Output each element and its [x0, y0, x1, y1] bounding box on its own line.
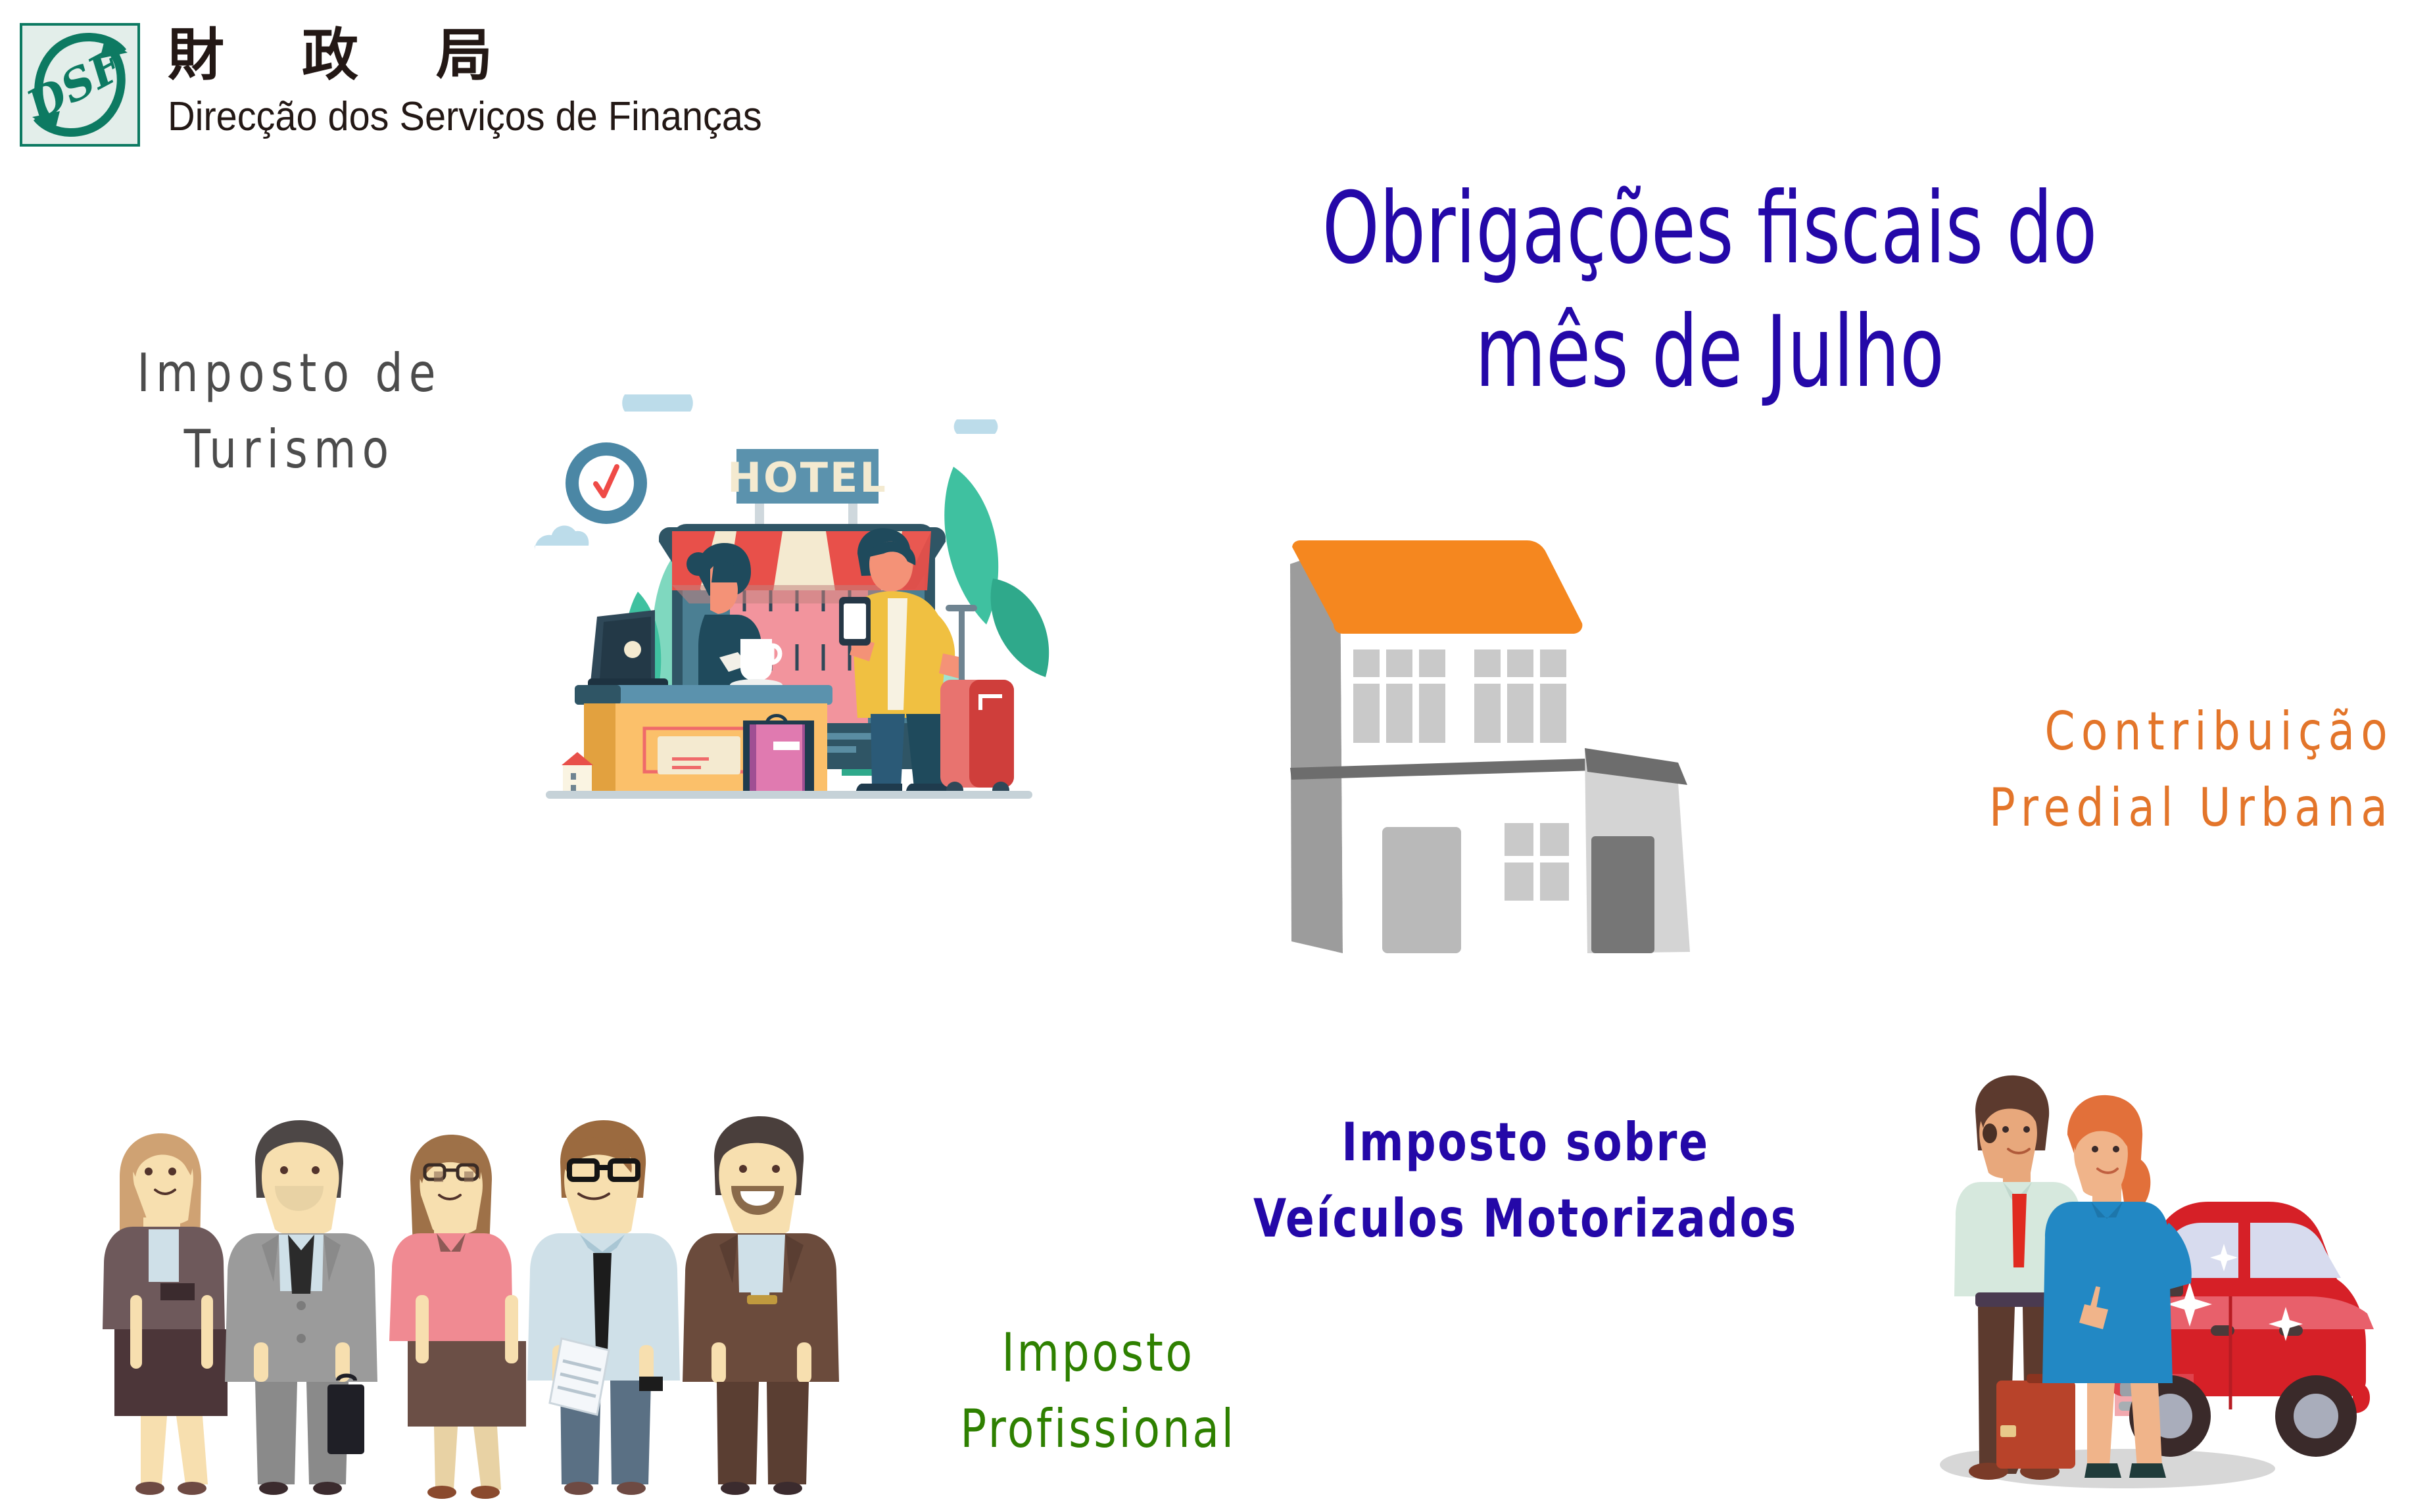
clock-check-icon: [566, 442, 647, 524]
house-front-door: [1382, 827, 1461, 953]
house-side-door: [1591, 836, 1654, 953]
person-man-brown-suit: [683, 1116, 839, 1495]
org-name-portuguese: Direcção dos Serviços de Finanças: [168, 95, 762, 138]
house-roof: [1292, 540, 1582, 634]
house-illustration: [1269, 500, 1743, 980]
label-imposto-de-turismo: Imposto de Turismo: [59, 335, 519, 488]
person-woman-pink: [389, 1135, 526, 1499]
car-sale-illustration: [1927, 1065, 2413, 1499]
business-people-illustration: [92, 1098, 868, 1512]
org-name-chinese: 財 政 局: [168, 27, 807, 83]
person-woman-blonde: [103, 1133, 228, 1495]
person-man-blue-shirt: [527, 1120, 680, 1495]
svg-text:HOTEL: HOTEL: [727, 454, 888, 502]
header-logo-block: DSF 財 政 局 Direcção dos Serviços de Finan…: [20, 23, 807, 147]
document-icon: [550, 1338, 609, 1415]
hotel-check-in-illustration: HOTEL: [533, 388, 1085, 809]
shopping-bags: [743, 716, 814, 793]
dsf-circular-arrow-logo: DSF: [20, 23, 140, 147]
label-imposto-veiculos-motorizados: Imposto sobre Veículos Motorizados: [1182, 1104, 1869, 1257]
person-man-grey-suit: [225, 1120, 377, 1495]
hotel-sign: HOTEL: [727, 449, 888, 527]
label-contribuicao-predial-urbana: Contribuição Predial Urbana: [1789, 694, 2394, 846]
briefcase: [1996, 1374, 2075, 1469]
page-title: Obrigações fiscais do mês de Julho: [1257, 168, 2163, 414]
label-imposto-profissional: Imposto Profissional: [868, 1315, 1328, 1467]
